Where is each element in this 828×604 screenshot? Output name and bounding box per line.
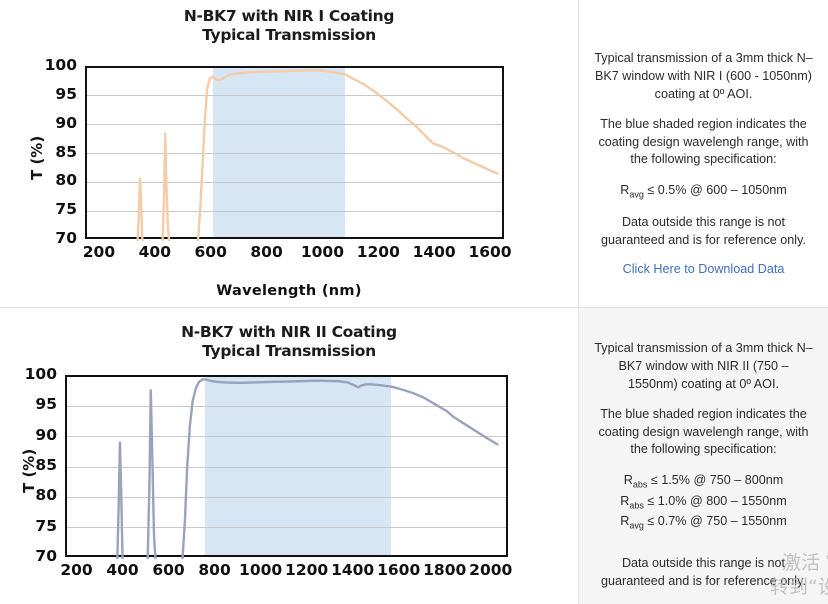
data-series-line <box>117 379 497 559</box>
description-2: The blue shaded region indicates the coa… <box>593 406 814 460</box>
x-tick-label: 400 <box>125 245 185 261</box>
spec-item: Rabs ≤ 1.0% @ 800 – 1550nm <box>593 492 814 513</box>
spec-list-nir2: Rabs ≤ 1.5% @ 750 – 800nm Rabs ≤ 1.0% @ … <box>593 471 814 533</box>
spec-subscript: abs <box>629 500 644 510</box>
x-tick-label: 1600 <box>460 245 520 261</box>
description-2: The blue shaded region indicates the coa… <box>593 116 814 170</box>
y-tick-label: 90 <box>0 428 57 444</box>
spec-item: Rabs ≤ 1.5% @ 750 – 800nm <box>593 471 814 492</box>
info-panel-nir2-body: Typical transmission of a 3mm thick N–BK… <box>579 308 828 604</box>
info-panel-nir1: Typical transmission of a 3mm thick N–BK… <box>578 0 828 308</box>
spec-text: ≤ 1.5% @ 750 – 800nm <box>647 473 783 487</box>
y-tick-label: 80 <box>0 173 77 189</box>
data-series-line <box>137 70 497 241</box>
y-tick-label: 85 <box>0 458 57 474</box>
description-1: Typical transmission of a 3mm thick N–BK… <box>593 340 814 394</box>
info-panel-nir2: Typical transmission of a 3mm thick N–BK… <box>578 308 828 604</box>
spec-subscript: abs <box>633 480 648 490</box>
x-tick-label: 1200 <box>348 245 408 261</box>
disclaimer: Data outside this range is not guarantee… <box>593 555 814 591</box>
download-data-link[interactable]: Click Here to Download Data <box>593 262 814 276</box>
y-tick-label: 100 <box>0 58 77 74</box>
x-tick-label: 200 <box>69 245 129 261</box>
plot-box <box>85 66 504 239</box>
x-tick-label: 600 <box>181 245 241 261</box>
page-grid: N-BK7 with NIR I Coating Typical Transmi… <box>0 0 828 604</box>
y-tick-label: 85 <box>0 145 77 161</box>
spec-symbol: R <box>620 494 629 508</box>
y-tick-label: 100 <box>0 367 57 383</box>
spec-symbol: R <box>620 183 629 197</box>
y-tick-label: 75 <box>0 202 77 218</box>
x-axis-title-nir1: Wavelength (nm) <box>0 283 578 299</box>
x-tick-label: 1000 <box>292 245 352 261</box>
x-tick-label: 800 <box>237 245 297 261</box>
y-tick-label: 95 <box>0 87 77 103</box>
plot-area-nir2: T (%) 7075808590951002004006008001000120… <box>0 308 578 604</box>
spec-subscript: avg <box>629 521 644 531</box>
spec-text: ≤ 0.5% @ 600 – 1050nm <box>644 183 787 197</box>
description-1: Typical transmission of a 3mm thick N–BK… <box>593 50 814 104</box>
spec-list-nir1: Ravg ≤ 0.5% @ 600 – 1050nm <box>593 181 814 202</box>
chart-panel-nir2: N-BK7 with NIR II Coating Typical Transm… <box>0 308 578 604</box>
y-tick-label: 95 <box>0 397 57 413</box>
spec-item: Ravg ≤ 0.5% @ 600 – 1050nm <box>593 181 814 202</box>
y-tick-label: 75 <box>0 519 57 535</box>
series-layer <box>87 68 506 241</box>
spec-symbol: R <box>624 473 633 487</box>
spec-symbol: R <box>620 514 629 528</box>
x-tick-label: 1400 <box>404 245 464 261</box>
spec-text: ≤ 1.0% @ 800 – 1550nm <box>644 494 787 508</box>
series-layer <box>67 377 510 559</box>
plot-box <box>65 375 508 557</box>
y-tick-label: 90 <box>0 116 77 132</box>
spec-item: Ravg ≤ 0.7% @ 750 – 1550nm <box>593 512 814 533</box>
chart-panel-nir1: N-BK7 with NIR I Coating Typical Transmi… <box>0 0 578 308</box>
info-panel-nir1-body: Typical transmission of a 3mm thick N–BK… <box>579 0 828 276</box>
plot-area-nir1: T (%) Wavelength (nm) 707580859095100200… <box>0 0 578 308</box>
y-tick-label: 70 <box>0 231 77 247</box>
x-tick-label: 2000 <box>461 563 521 579</box>
spec-subscript: avg <box>629 190 644 200</box>
disclaimer: Data outside this range is not guarantee… <box>593 214 814 250</box>
y-tick-label: 80 <box>0 488 57 504</box>
spec-text: ≤ 0.7% @ 750 – 1550nm <box>644 514 787 528</box>
